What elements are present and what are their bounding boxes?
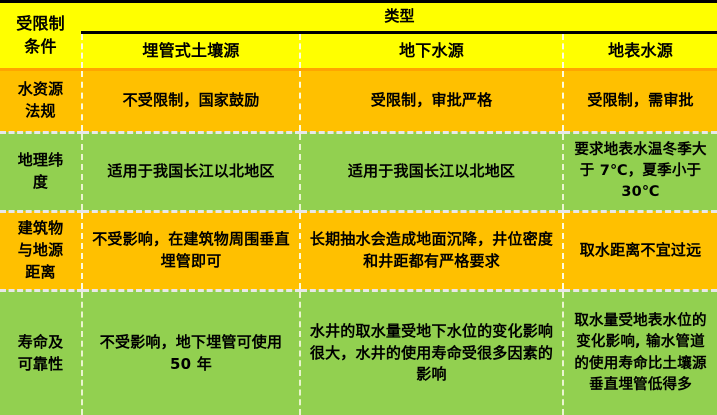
cell-water-regulation-surface: 受限制，需审批 [563,69,717,132]
cell-water-regulation-soil: 不受限制，国家鼓励 [82,69,300,132]
row-label-line2: 度 [6,172,75,194]
header-col-soil: 埋管式土壤源 [82,32,300,69]
table-row: 水资源 法规 不受限制，国家鼓励 受限制，审批严格 受限制，需审批 [0,69,717,132]
table-row: 寿命及 可靠性 不受影响，地下埋管可使用 50 年 水井的取水量受地下水位的变化… [0,290,717,415]
header-col-ground: 地下水源 [300,32,563,69]
cell-building-distance-soil: 不受影响，在建筑物周围垂直埋管即可 [82,211,300,290]
row-label-water-regulation: 水资源 法规 [0,69,82,132]
comparison-table-container: 受限制 条件 类型 埋管式土壤源 地下水源 地表水源 水资源 法规 不受限制，国… [0,0,717,410]
cell-latitude-soil: 适用于我国长江以北地区 [82,132,300,211]
header-col-surface: 地表水源 [563,32,717,69]
row-label-line1: 水资源 [6,79,75,101]
header-condition-label: 受限制 条件 [0,3,82,69]
row-label-building-distance: 建筑物 与地源 距离 [0,211,82,290]
header-type-label: 类型 [82,3,717,32]
cell-building-distance-surface: 取水距离不宜过远 [563,211,717,290]
row-label-line1: 建筑物 [6,218,75,240]
cell-lifespan-soil: 不受影响，地下埋管可使用 50 年 [82,290,300,415]
table-row: 建筑物 与地源 距离 不受影响，在建筑物周围垂直埋管即可 长期抽水会造成地面沉降… [0,211,717,290]
cell-water-regulation-ground: 受限制，审批严格 [300,69,563,132]
cell-latitude-ground: 适用于我国长江以北地区 [300,132,563,211]
header-condition-line2: 条件 [6,35,75,58]
cell-lifespan-surface: 取水量受地表水位的变化影响, 输水管道的使用寿命比土壤源垂直埋管低得多 [563,290,717,415]
row-label-line2: 法规 [6,101,75,123]
row-label-line3: 距离 [6,262,75,284]
row-label-latitude: 地理纬 度 [0,132,82,211]
table-header-group-row: 受限制 条件 类型 [0,3,717,32]
cell-building-distance-ground: 长期抽水会造成地面沉降，井位密度和井距都有严格要求 [300,211,563,290]
header-condition-line1: 受限制 [6,12,75,35]
cell-lifespan-ground: 水井的取水量受地下水位的变化影响很大，水井的使用寿命受很多因素的影响 [300,290,563,415]
row-label-line2: 与地源 [6,240,75,262]
table-row: 地理纬 度 适用于我国长江以北地区 适用于我国长江以北地区 要求地表水温冬季大于… [0,132,717,211]
table-header-subcolumn-row: 埋管式土壤源 地下水源 地表水源 [0,32,717,69]
cell-latitude-surface: 要求地表水温冬季大于 7℃，夏季小于 30℃ [563,132,717,211]
row-label-line1: 地理纬 [6,150,75,172]
row-label-lifespan-reliability: 寿命及 可靠性 [0,290,82,415]
comparison-table: 受限制 条件 类型 埋管式土壤源 地下水源 地表水源 水资源 法规 不受限制，国… [0,3,717,415]
row-label-line1: 寿命及 [6,332,75,354]
row-label-line2: 可靠性 [6,354,75,376]
